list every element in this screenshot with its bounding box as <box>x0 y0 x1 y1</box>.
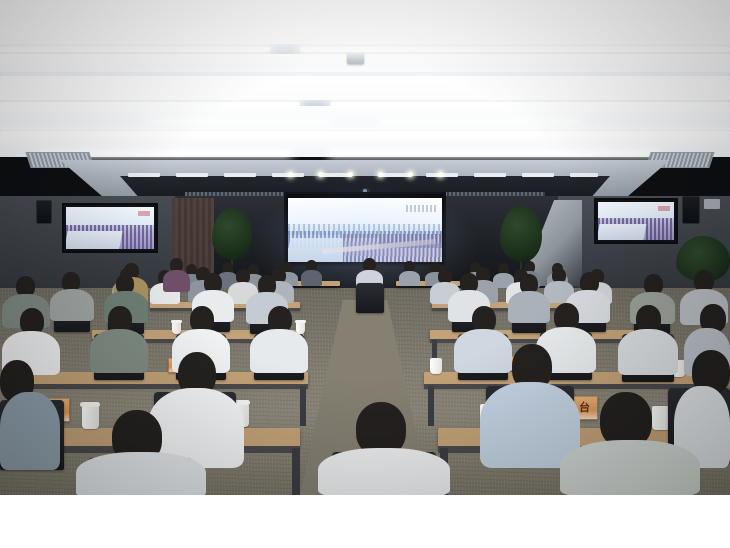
soffit-slot <box>176 173 208 177</box>
attendee-body <box>454 329 512 373</box>
soffit-slot <box>570 173 598 177</box>
attendee-body <box>618 329 678 375</box>
screen-sky <box>66 207 154 225</box>
tea-cup <box>82 406 99 429</box>
office-chair <box>356 283 384 313</box>
ceiling-light-tube <box>380 120 580 123</box>
ceiling-light-tube <box>150 120 330 123</box>
ceiling-spot-light <box>438 172 443 177</box>
attendee-body <box>301 270 322 286</box>
desk-leg <box>292 448 300 495</box>
soffit-slot <box>474 173 506 177</box>
ceiling-light-tube <box>300 47 730 52</box>
attendee-body <box>399 271 420 286</box>
ceiling-light-tube <box>0 47 270 52</box>
conference-room-photo: · · · · · · 干 子 台 姓 名 台 <box>0 0 730 495</box>
ceiling-light-tube <box>0 131 730 135</box>
screen-river <box>598 224 647 240</box>
desk-leg <box>428 386 434 426</box>
ceiling-surface <box>0 0 730 46</box>
ceiling-band <box>0 106 730 132</box>
wall-speaker-icon <box>36 200 52 224</box>
soffit-slot <box>522 173 554 177</box>
cup-lid <box>171 320 182 323</box>
potted-plant <box>500 206 542 262</box>
ceiling-light-tube <box>0 76 730 80</box>
potted-plant <box>212 208 252 260</box>
side-led-display-right <box>594 198 678 244</box>
attendee-body <box>90 329 148 373</box>
ceiling-light-tube <box>330 151 660 155</box>
ceiling-projector-icon <box>347 50 364 64</box>
ceiling-light-tube <box>0 102 300 106</box>
ceiling-spot-light <box>318 172 323 177</box>
soffit-slot <box>224 173 256 177</box>
ceiling-spot-light <box>288 172 293 177</box>
ceiling-spot-light <box>408 172 413 177</box>
wall-speaker-icon <box>682 196 700 224</box>
desk-leg <box>300 386 306 426</box>
attendee-body <box>318 448 450 495</box>
ceiling-spot-light <box>348 172 353 177</box>
cup-lid <box>295 320 306 323</box>
tea-cup <box>172 322 181 334</box>
attendee-body <box>76 452 206 495</box>
screen-watermark-logo <box>138 211 150 216</box>
ceiling-band <box>0 54 730 72</box>
attendee-body <box>163 270 190 292</box>
attendee-body <box>508 291 550 323</box>
main-led-display <box>288 198 442 262</box>
attendee-body <box>50 289 94 321</box>
photo-letterbox <box>0 495 730 548</box>
ceiling-light-tube <box>330 102 730 106</box>
screen-watermark-logo <box>406 205 436 212</box>
screen-watermark-logo <box>658 206 670 211</box>
side-display-content <box>598 202 674 240</box>
wall-signage <box>704 199 720 209</box>
side-led-display-left <box>62 203 158 253</box>
ceiling-band <box>0 80 730 102</box>
side-display-content <box>66 207 154 249</box>
attendee-body <box>0 392 60 470</box>
screen-river <box>66 231 122 249</box>
tea-cup <box>430 358 442 374</box>
soffit-slot <box>128 173 160 177</box>
ceiling-spot-light <box>378 172 383 177</box>
desk-edge <box>20 384 308 389</box>
attendee-body <box>250 329 308 373</box>
cup-lid <box>80 402 100 407</box>
attendee-body <box>560 440 700 495</box>
